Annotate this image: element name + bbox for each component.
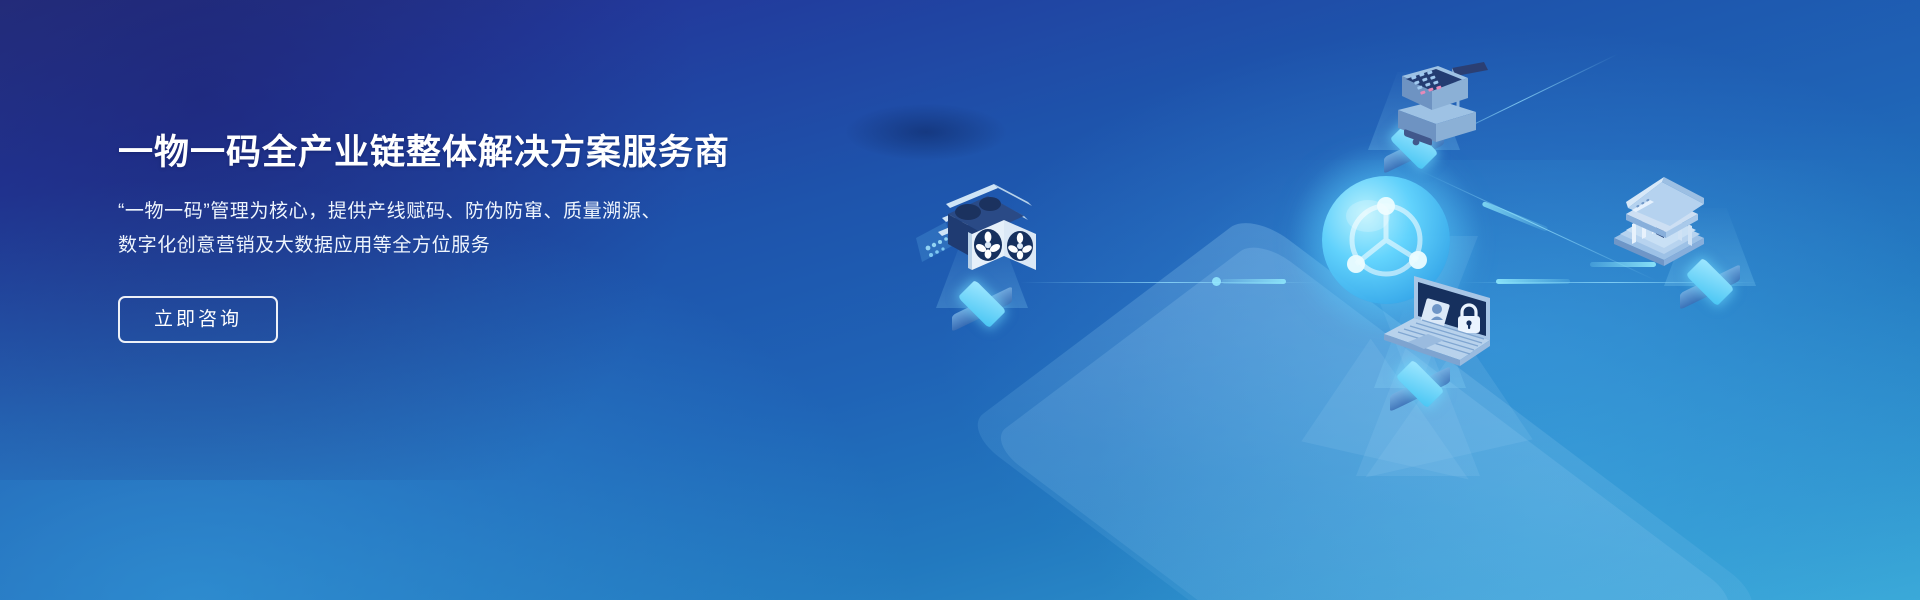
bank-building-icon <box>1608 152 1728 272</box>
sphere-shadow <box>846 104 1006 160</box>
subtitle-line-1: “一物一码”管理为核心，提供产线赋码、防伪防窜、质量溯源、 <box>118 195 758 229</box>
laptop-lock-icon <box>1378 268 1508 378</box>
consult-now-button[interactable]: 立即咨询 <box>118 296 278 343</box>
data-dot-left <box>1212 277 1221 286</box>
page-title: 一物一码全产业链整体解决方案服务商 <box>118 132 758 173</box>
hero-subtitle: “一物一码”管理为核心，提供产线赋码、防伪防窜、质量溯源、 数字化创意营销及大数… <box>118 195 758 263</box>
hero-copy: 一物一码全产业链整体解决方案服务商 “一物一码”管理为核心，提供产线赋码、防伪防… <box>118 132 758 343</box>
pos-register-icon <box>1380 48 1500 158</box>
hero-illustration <box>860 0 1920 600</box>
server-fan-rack-icon <box>912 168 1077 288</box>
data-pulse-left <box>1222 279 1286 284</box>
subtitle-line-2: 数字化创意营销及大数据应用等全方位服务 <box>118 229 758 263</box>
data-pulse-upper-right <box>1482 201 1549 232</box>
hero-banner: 一物一码全产业链整体解决方案服务商 “一物一码”管理为核心，提供产线赋码、防伪防… <box>0 0 1920 600</box>
